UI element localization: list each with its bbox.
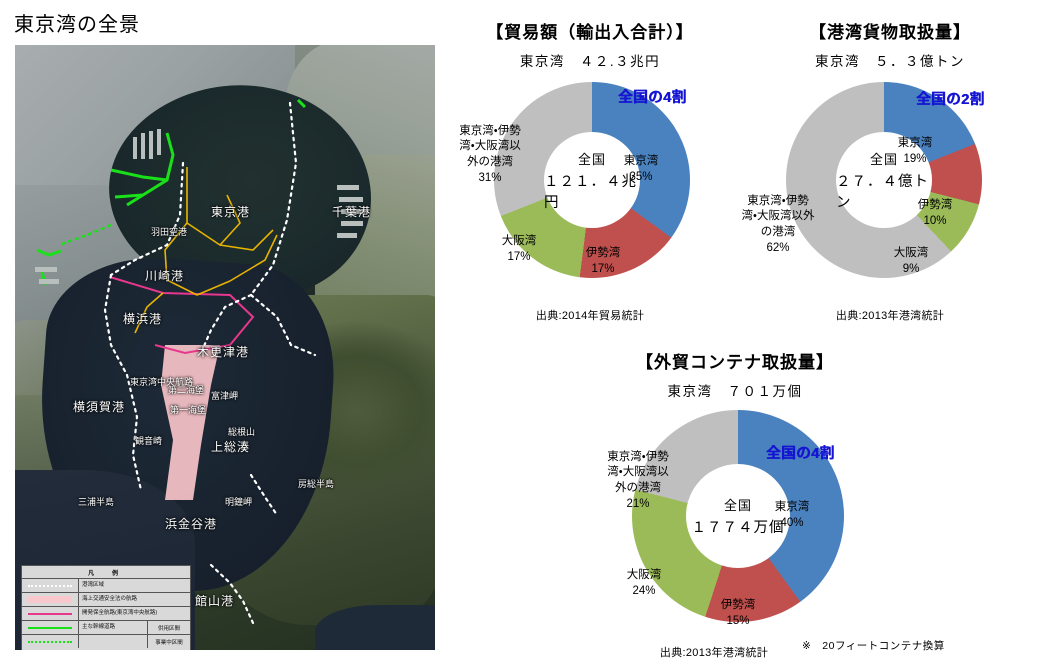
chart-trade-value: 【貿易額（輸出入合計）】 東京湾 ４２.３兆円 全国 １２１．４兆円 全国の4割… [440,18,740,323]
legend-key-green-dotted [22,635,79,648]
seg-pct-other: 31% [442,171,538,187]
trunk-roads-planned [59,225,111,245]
seg-pct-tokyo: 35% [604,170,678,186]
seg-pct-tokyo: 40% [756,516,828,532]
seg-pct-ise: 17% [566,262,640,278]
map-label: 富津岬 [211,389,238,402]
legend-key-pink-band [22,593,79,606]
legend-label-development-route: 開発保全航路(東京湾中央航路) [79,610,190,616]
chart-cargo-subtitle: 東京湾 ５．３億トン [740,50,1040,70]
fairway-band [161,345,220,500]
map-label: 川崎港 [145,267,184,284]
chart-cargo-label-other: 東京湾・伊勢 湾・大阪湾以外 の港湾 62% [726,178,830,272]
seg-pct-tokyo: 19% [880,152,950,168]
seg-name-osaka: 大阪湾 [502,235,537,247]
chart-cargo-callout: 全国の2割 [916,88,985,109]
chart-trade-label-other: 東京湾・伊勢 湾・大阪湾以 外の港湾 31% [442,108,538,202]
chart-trade-callout: 全国の4割 [618,86,687,107]
map-label: 横須賀港 [73,398,125,415]
map-label: 上総湊 [211,438,250,455]
seg-name-ise: 伊勢湾 [586,247,621,259]
chart-trade-donut-area: 全国 １２１．４兆円 全国の4割 東京湾 35% 伊勢湾 17% 大阪湾 17%… [440,70,740,305]
chart-container-label-tokyo: 東京湾 40% [756,484,828,547]
map-label: 東京湾中央航路 [130,375,193,388]
map-label: 総根山 [228,425,255,438]
legend-row-trunk-road-open: 主な幹線道路 供用区間 [22,621,190,635]
legend-row-port-area: 港湾区域 [22,579,190,593]
seg-name-tokyo: 東京湾 [624,155,659,167]
seg-pct-osaka: 24% [608,584,680,600]
chart-container-label-ise: 伊勢湾 15% [702,582,774,645]
legend-row-trunk-road-planned: 事業中区間 [22,635,190,648]
page-title: 東京湾の全景 [14,8,140,37]
chart-container-donut-area: 全国 １７７４万個 全国の4割 東京湾 40% 伊勢湾 15% 大阪湾 24% … [570,400,900,644]
map-label: 観音崎 [135,434,162,447]
map-label: 東京港 [211,203,250,220]
chart-trade-title: 【貿易額（輸出入合計）】 [440,18,740,43]
seg-pct-other: 21% [592,497,684,513]
chart-container-note: ※ 20フィートコンテナ換算 [802,638,945,653]
map-label: 第一海堡 [170,403,206,416]
seg-name-ise: 伊勢湾 [721,599,756,611]
legend-header: 凡 例 [22,566,190,579]
seg-name-other: 東京湾・伊勢 湾・大阪湾以 外の港湾 [607,451,668,494]
legend-label-port-area: 港湾区域 [79,582,190,588]
legend-row-development-route: 開発保全航路(東京湾中央航路) [22,607,190,621]
seg-name-tokyo: 東京湾 [775,501,810,513]
chart-cargo-source: 出典:2013年港湾統計 [740,307,1040,323]
seg-pct-ise: 10% [900,214,970,230]
chart-container-label-other: 東京湾・伊勢 湾・大阪湾以 外の港湾 21% [592,434,684,528]
chart-trade-label-tokyo: 東京湾 35% [604,138,678,201]
map-label: 羽田空港 [151,225,187,238]
legend-row-maritime-safety: 海上交通安全法の航路 [22,593,190,607]
legend-sub-under-construction: 事業中区間 [147,635,190,648]
seg-pct-osaka: 17% [482,250,556,266]
chart-cargo-donut-area: 全国 ２７．４億トン 全国の2割 東京湾 19% 伊勢湾 10% 大阪湾 9% … [740,70,1040,305]
chart-cargo-label-tokyo: 東京湾 19% [880,120,950,183]
chart-trade-subtitle: 東京湾 ４２.３兆円 [440,50,740,70]
legend-key-dotted-white [22,579,79,592]
trunk-roads-green [37,100,305,285]
shipping-routes-yellow [135,167,277,333]
seg-name-other: 東京湾・伊勢 湾・大阪湾以 外の港湾 [459,125,520,168]
map-label: 横浜港 [123,310,162,327]
chart-container-subtitle: 東京湾 ７０１万個 [570,380,900,400]
map-label: 木更津港 [197,343,249,360]
chart-cargo-label-osaka: 大阪湾 9% [876,230,946,293]
seg-name-osaka: 大阪湾 [894,247,929,259]
donut-trade-center-line1: 全国 [578,149,606,168]
chart-foreign-container: 【外貿コンテナ取扱量】 東京湾 ７０１万個 全国 １７７４万個 全国の4割 東京… [570,348,900,660]
port-piers [35,129,365,284]
legend-key-green-line [22,621,79,634]
legend-key-pink-line [22,607,79,620]
chart-trade-source: 出典:2014年貿易統計 [440,307,740,323]
legend-sub-open-section: 供用区間 [147,621,190,634]
map-label: 千葉港 [332,203,371,220]
map-panel: 東京湾の全景 [0,0,440,667]
seg-name-tokyo: 東京湾 [898,137,933,149]
chart-container-title: 【外貿コンテナ取扱量】 [570,348,900,373]
donut-container-center-line1: 全国 [724,495,752,514]
seg-name-osaka: 大阪湾 [627,569,662,581]
map-label: 明鐘岬 [225,495,252,508]
chart-cargo-title: 【港湾貨物取扱量】 [740,18,1040,43]
seg-name-ise: 伊勢湾 [918,199,953,211]
seg-pct-osaka: 9% [876,262,946,278]
chart-container-label-osaka: 大阪湾 24% [608,552,680,615]
seg-pct-other: 62% [726,241,830,257]
chart-port-cargo: 【港湾貨物取扱量】 東京湾 ５．３億トン 全国 ２７．４億トン 全国の2割 東京… [740,18,1040,323]
seg-name-other: 東京湾・伊勢 湾・大阪湾以外 の港湾 [742,195,815,238]
chart-trade-label-osaka: 大阪湾 17% [482,218,556,281]
seg-pct-ise: 15% [702,614,774,630]
satellite-map-image: 東京港千葉港羽田空港川崎港横浜港木更津港第二海堡富津岬第一海堡横須賀港観音崎総根… [15,45,435,650]
map-label: 浜金谷港 [165,515,217,532]
legend-label-trunk-road: 主な幹線道路 [79,624,147,630]
map-legend: 凡 例 港湾区域 海上交通安全法の航路 開発保全航路(東京湾中央航路) 主な幹線… [21,565,191,650]
map-label: 房総半島 [298,477,334,490]
chart-trade-label-ise: 伊勢湾 17% [566,230,640,293]
map-label: 館山港 [195,592,234,609]
chart-container-callout: 全国の4割 [766,442,835,463]
charts-panel: 【貿易額（輸出入合計）】 東京湾 ４２.３兆円 全国 １２１．４兆円 全国の4割… [440,0,1057,667]
map-label: 三浦半島 [78,495,114,508]
legend-label-maritime-safety: 海上交通安全法の航路 [79,596,190,602]
